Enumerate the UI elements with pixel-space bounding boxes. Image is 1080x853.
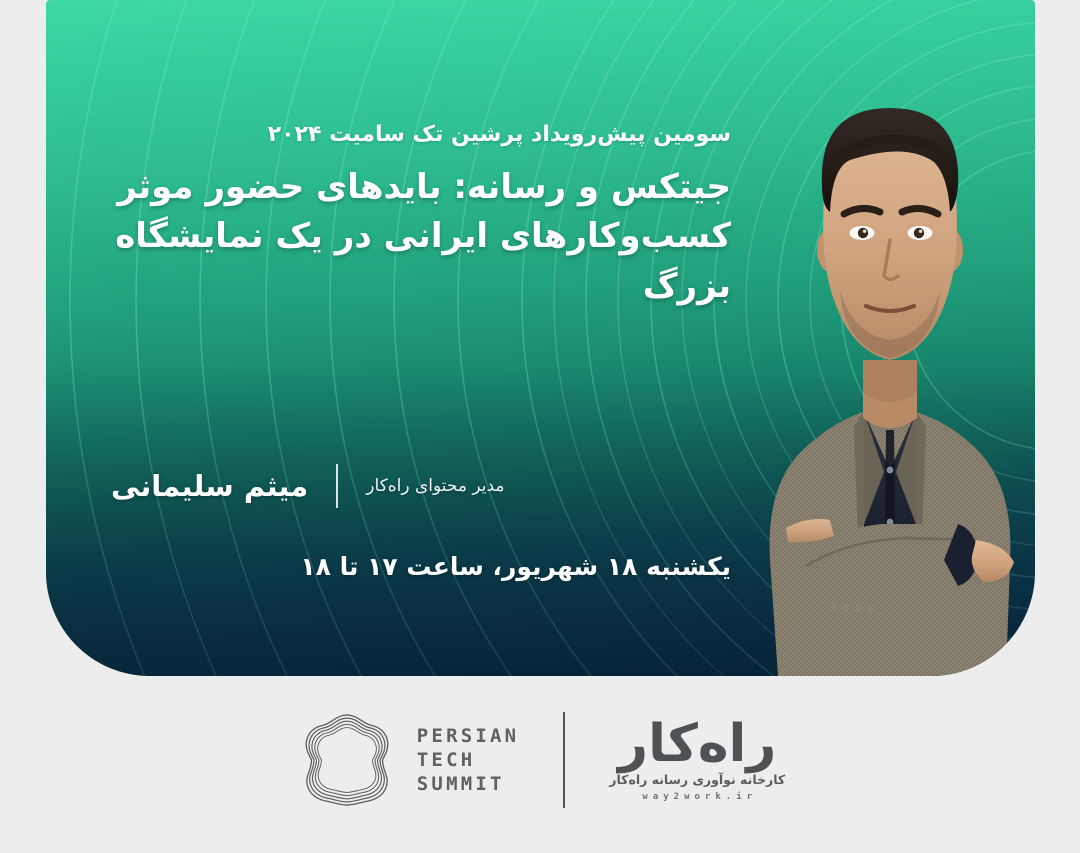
pts-line-2: TECH <box>417 751 519 770</box>
bottom-vignette <box>46 365 1035 676</box>
pts-line-3: SUMMIT <box>417 775 519 794</box>
rahkar-logo: راه‌کار کارخانه نوآوری رسانه راه‌کار way… <box>609 718 785 803</box>
speaker-row: میثم سلیمانی مدیر محتوای راه‌کار <box>111 464 731 508</box>
speaker-divider <box>336 464 338 508</box>
rahkar-url: way2work.ir <box>637 793 757 802</box>
pts-line-1: PERSIAN <box>417 727 519 746</box>
event-poster-card: سومین پیش‌رویداد پرشین تک سامیت ۲۰۲۴ جیت… <box>46 0 1035 676</box>
persian-tech-summit-logo: PERSIAN TECH SUMMIT <box>295 708 519 812</box>
persian-tech-summit-mandala-icon <box>295 708 399 812</box>
speaker-role: مدیر محتوای راه‌کار <box>366 476 504 496</box>
headline-line-2: کسب‌وکارهای ایرانی در یک نمایشگاه بزرگ <box>111 212 731 311</box>
persian-tech-summit-wordmark: PERSIAN TECH SUMMIT <box>417 727 519 794</box>
headline-block: سومین پیش‌رویداد پرشین تک سامیت ۲۰۲۴ جیت… <box>111 118 731 311</box>
page-title: جیتکس و رسانه: بایدهای حضور موثر کسب‌وکا… <box>111 163 731 311</box>
event-date-time: یکشنبه ۱۸ شهریور، ساعت ۱۷ تا ۱۸ <box>111 552 731 581</box>
rahkar-tagline: کارخانه نوآوری رسانه راه‌کار <box>609 774 785 787</box>
footer-logo-divider <box>563 712 565 808</box>
poster-root: سومین پیش‌رویداد پرشین تک سامیت ۲۰۲۴ جیت… <box>0 0 1080 853</box>
headline-line-1: جیتکس و رسانه: بایدهای حضور موثر <box>117 167 731 207</box>
speaker-name: میثم سلیمانی <box>111 469 308 503</box>
event-overline: سومین پیش‌رویداد پرشین تک سامیت ۲۰۲۴ <box>111 118 731 151</box>
footer-logos: PERSIAN TECH SUMMIT راه‌کار کارخانه نوآو… <box>0 690 1080 830</box>
rahkar-wordmark: راه‌کار <box>618 718 776 770</box>
